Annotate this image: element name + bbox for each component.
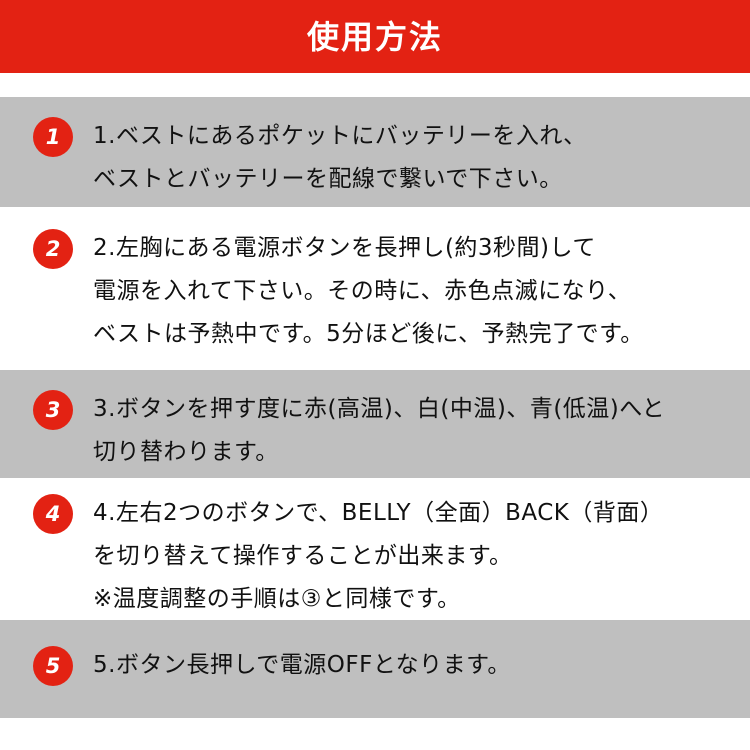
step-row: 3 3.ボタンを押す度に赤(高温)、白(中温)、青(低温)へと 切り替わります。 [0, 370, 750, 478]
page-title: 使用方法 [307, 21, 443, 53]
step-row: 4 4.左右2つのボタンで、BELLY（全面）BACK（背面） を切り替えて操作… [0, 478, 750, 616]
step-line: 切り替わります。 [93, 431, 750, 474]
step-line: を切り替えて操作することが出来ます。 [93, 535, 750, 578]
step-row: 1 1.ベストにあるポケットにバッテリーを入れ、 ベストとバッテリーを配線で繋い… [0, 97, 750, 207]
step-number-badge: 3 [33, 390, 73, 430]
step-line: 4.左右2つのボタンで、BELLY（全面）BACK（背面） [93, 492, 750, 535]
step-line: ※温度調整の手順は③と同様です。 [93, 578, 750, 621]
step-text: 3.ボタンを押す度に赤(高温)、白(中温)、青(低温)へと 切り替わります。 [73, 388, 750, 474]
step-number-badge: 1 [33, 117, 73, 157]
step-text: 4.左右2つのボタンで、BELLY（全面）BACK（背面） を切り替えて操作する… [73, 492, 750, 621]
step-text: 5.ボタン長押しで電源OFFとなります。 [73, 644, 750, 687]
step-line: ベストとバッテリーを配線で繋いで下さい。 [93, 158, 750, 201]
header-banner: 使用方法 [0, 0, 750, 73]
step-number-badge: 5 [33, 646, 73, 686]
step-row: 5 5.ボタン長押しで電源OFFとなります。 [0, 620, 750, 718]
steps-list: 1 1.ベストにあるポケットにバッテリーを入れ、 ベストとバッテリーを配線で繋い… [0, 73, 750, 718]
instruction-page: 使用方法 1 1.ベストにあるポケットにバッテリーを入れ、 ベストとバッテリーを… [0, 0, 750, 750]
step-line: 2.左胸にある電源ボタンを長押し(約3秒間)して [93, 227, 750, 270]
step-number-badge: 4 [33, 494, 73, 534]
step-line: 1.ベストにあるポケットにバッテリーを入れ、 [93, 115, 750, 158]
step-row: 2 2.左胸にある電源ボタンを長押し(約3秒間)して 電源を入れて下さい。その時… [0, 207, 750, 355]
step-line: ベストは予熱中です。5分ほど後に、予熱完了です。 [93, 313, 750, 356]
step-text: 2.左胸にある電源ボタンを長押し(約3秒間)して 電源を入れて下さい。その時に、… [73, 227, 750, 356]
step-line: 3.ボタンを押す度に赤(高温)、白(中温)、青(低温)へと [93, 388, 750, 431]
step-number-badge: 2 [33, 229, 73, 269]
step-line: 電源を入れて下さい。その時に、赤色点滅になり、 [93, 270, 750, 313]
step-line: 5.ボタン長押しで電源OFFとなります。 [93, 644, 750, 687]
step-text: 1.ベストにあるポケットにバッテリーを入れ、 ベストとバッテリーを配線で繋いで下… [73, 115, 750, 201]
